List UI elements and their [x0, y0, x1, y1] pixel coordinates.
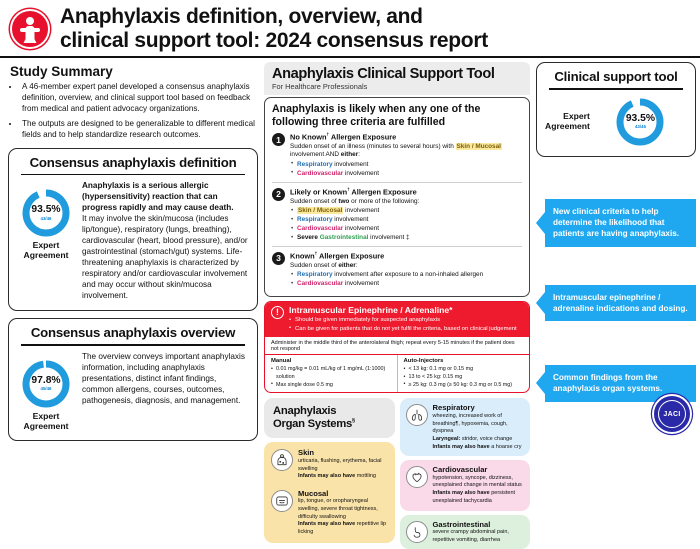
donut-fraction: 45/46 — [41, 387, 52, 391]
auto-injector-heading: Auto-Injectors — [404, 357, 524, 365]
epinephrine-dosing: Manual 0.01 mg/kg = 0.01 mL/kg of 1 mg/m… — [265, 354, 529, 392]
page-title: Anaphylaxis definition, overview, and cl… — [60, 5, 488, 52]
middle-column: Anaphylaxis Clinical Support Tool For He… — [264, 62, 530, 549]
criterion-number: 2 — [272, 188, 285, 201]
criterion-title: No Known† Allergen Exposure — [290, 132, 522, 142]
epinephrine-title: Intramuscular Epinephrine / Adrenaline* — [289, 305, 523, 315]
organ-systems-right-col: Respiratory wheezing, increased work of … — [400, 398, 531, 549]
donut-chart: 93.5% 43/46 — [20, 187, 72, 239]
criterion-title: Known† Allergen Exposure — [290, 251, 522, 261]
list-item: A 46-member expert panel developed a con… — [20, 82, 258, 114]
overview-agreement-stat: 97.8% 45/46 Expert Agreement — [17, 352, 75, 432]
donut-percent: 93.5% — [626, 114, 655, 124]
consensus-overview-panel: Consensus anaphylaxis overview 97.8% 45/… — [8, 318, 258, 440]
list-item: Respiratory involvement — [290, 161, 522, 170]
organ-systems-left-col: Anaphylaxis Organ Systems§ — [264, 398, 395, 549]
lungs-icon — [406, 404, 428, 426]
consensus-definition-panel: Consensus anaphylaxis definition 93.5% 4… — [8, 148, 258, 311]
clinical-support-tool-header: Anaphylaxis Clinical Support Tool For He… — [264, 62, 530, 95]
cst-subheading: For Healthcare Professionals — [272, 82, 522, 91]
callout-epinephrine: Intramuscular epinephrine / adrenaline i… — [545, 285, 696, 322]
criterion-items: Respiratory involvement Cardiovascular i… — [290, 161, 522, 179]
divider — [21, 344, 245, 346]
divider — [549, 88, 683, 90]
exclamation-icon: ! — [271, 306, 284, 319]
list-item: Respiratory involvement after exposure t… — [290, 271, 522, 280]
callout-criteria: New clinical criteria to help determine … — [545, 199, 696, 247]
skin-torso-icon — [271, 449, 293, 471]
donut-fraction: 43/46 — [41, 217, 52, 221]
mouth-icon — [271, 490, 293, 512]
donut-label: Expert Agreement — [17, 412, 75, 432]
list-item: Max single dose 0.5 mg — [271, 382, 391, 390]
donut-percent: 93.5% — [31, 205, 60, 215]
organ-card-respiratory: Respiratory wheezing, increased work of … — [400, 398, 531, 456]
page-header: Anaphylaxis definition, overview, and cl… — [0, 0, 700, 58]
organ-name: Cardiovascular — [433, 465, 525, 474]
skin-mucosal-group: Skin urticaria, flushing, erythema, faci… — [264, 442, 395, 543]
definition-agreement-stat: 93.5% 43/46 Expert Agreement — [17, 181, 75, 261]
manual-dosing: Manual 0.01 mg/kg = 0.01 mL/kg of 1 mg/m… — [265, 355, 398, 392]
donut-label: Expert Agreement — [17, 241, 75, 261]
list-item: Cardiovascular involvement — [290, 170, 522, 179]
organ-card-mucosal: Mucosal lip, tongue, or oropharyngeal sw… — [267, 486, 392, 540]
cst-heading: Anaphylaxis Clinical Support Tool — [272, 66, 522, 82]
statement-highlight: likely — [349, 103, 376, 115]
heart-icon — [406, 466, 428, 488]
study-summary-heading: Study Summary — [10, 64, 258, 79]
list-item: Respiratory involvement — [290, 216, 522, 225]
jaci-journal-badge: JACI — [654, 396, 690, 432]
overview-text: The overview conveys important anaphylax… — [82, 352, 249, 407]
list-item: Skin / Mucosal involvement — [290, 207, 522, 216]
criterion-number: 3 — [272, 252, 285, 265]
criterion-desc: Sudden onset of an illness (minutes to s… — [290, 143, 502, 158]
criterion-3: 3 Known† Allergen Exposure Sudden onset … — [272, 246, 522, 292]
list-item: 13 to < 25 kg: 0.15 mg — [404, 374, 524, 382]
organ-systems-section: Anaphylaxis Organ Systems§ — [264, 398, 530, 549]
criterion-1: 1 No Known† Allergen Exposure Sudden ons… — [272, 128, 522, 182]
organ-title-line1: Anaphylaxis — [273, 405, 386, 418]
page-title-line1: Anaphylaxis definition, overview, and — [60, 5, 488, 29]
donut-label-line2: Agreement — [17, 422, 75, 432]
criterion-items: Skin / Mucosal involvement Respiratory i… — [290, 207, 522, 243]
epinephrine-red-header: ! Intramuscular Epinephrine / Adrenaline… — [265, 302, 529, 337]
list-item: ≥ 25 kg: 0.3 mg (≥ 50 kg: 0.3 mg or 0.5 … — [404, 382, 524, 390]
list-item: Cardiovascular involvement — [290, 280, 522, 289]
organ-card-cardiovascular: Cardiovascular hypotension, syncope, diz… — [400, 460, 531, 510]
organ-findings: urticaria, flushing, erythema, facial sw… — [298, 458, 388, 481]
panel-title: Consensus anaphylaxis overview — [17, 325, 249, 340]
criteria-box: Anaphylaxis is likely when any one of th… — [264, 97, 530, 297]
organ-findings: lip, tongue, or oropharyngeal swelling, … — [298, 498, 388, 536]
donut-percent: 97.8% — [31, 376, 60, 386]
list-item: Should be given immediately for suspecte… — [289, 316, 523, 325]
content-columns: Study Summary A 46-member expert panel d… — [0, 58, 700, 549]
organ-systems-title: Anaphylaxis Organ Systems§ — [264, 398, 395, 438]
stomach-icon — [406, 521, 428, 543]
organ-findings: wheezing, increased work of breathing¶, … — [433, 413, 525, 451]
criteria-statement: Anaphylaxis is likely when any one of th… — [272, 103, 522, 128]
definition-text: Anaphylaxis is a serious allergic (hyper… — [82, 181, 249, 302]
organ-name: Skin — [298, 448, 388, 457]
list-item: < 13 kg: 0.1 mg or 0.15 mg — [404, 366, 524, 374]
definition-body: It may involve the skin/mucosa (includes… — [82, 214, 248, 300]
organ-findings: severe crampy abdominal pain, repetitive… — [433, 529, 525, 544]
list-item: Cardiovascular involvement — [290, 225, 522, 234]
donut-chart: 97.8% 45/46 — [20, 358, 72, 410]
donut-label-line2: Agreement — [545, 122, 590, 132]
epinephrine-bullets: Should be given immediately for suspecte… — [289, 316, 523, 333]
organ-name: Mucosal — [298, 489, 388, 498]
epinephrine-box: ! Intramuscular Epinephrine / Adrenaline… — [264, 301, 530, 393]
right-column: Clinical support tool Expert Agreement 9… — [536, 62, 696, 549]
organ-card-skin: Skin urticaria, flushing, erythema, faci… — [267, 445, 392, 484]
donut-label: Expert Agreement — [545, 112, 590, 132]
auto-injector-dosing: Auto-Injectors < 13 kg: 0.1 mg or 0.15 m… — [398, 355, 530, 392]
page-title-line2: clinical support tool: 2024 consensus re… — [60, 29, 488, 53]
skin-mucosal-tag: Skin / Mucosal — [456, 143, 502, 150]
organ-name: Respiratory — [433, 403, 525, 412]
donut-chart: 93.5% 43/46 — [614, 96, 666, 148]
manual-heading: Manual — [271, 357, 391, 365]
epinephrine-administration-note: Administer in the middle third of the an… — [265, 337, 529, 354]
study-summary-section: Study Summary A 46-member expert panel d… — [8, 64, 258, 141]
panel-title: Clinical support tool — [545, 69, 687, 84]
panel-title: Consensus anaphylaxis definition — [17, 155, 249, 170]
criterion-desc: Sudden onset of either: — [290, 262, 358, 269]
organ-name: Gastrointestinal — [433, 520, 525, 529]
criterion-items: Respiratory involvement after exposure t… — [290, 271, 522, 289]
anaphylaxis-person-logo-icon — [10, 9, 50, 49]
criterion-title: Likely or Known† Allergen Exposure — [290, 187, 522, 197]
left-column: Study Summary A 46-member expert panel d… — [8, 62, 258, 549]
criterion-number: 1 — [272, 133, 285, 146]
donut-label-line2: Agreement — [17, 251, 75, 261]
list-item: Severe Gastrointestinal involvement ‡ — [290, 234, 522, 243]
organ-title-line2: Organ Systems§ — [273, 418, 386, 431]
criterion-desc: Sudden onset of two or more of the follo… — [290, 198, 419, 205]
organ-card-gastrointestinal: Gastrointestinal severe crampy abdominal… — [400, 515, 531, 549]
list-item: 0.01 mg/kg = 0.01 mL/kg of 1 mg/mL (1:10… — [271, 366, 391, 381]
study-summary-bullets: A 46-member expert panel developed a con… — [8, 82, 258, 141]
clinical-support-tool-panel: Clinical support tool Expert Agreement 9… — [536, 62, 696, 157]
organ-findings: hypotension, syncope, dizziness, unexpla… — [433, 475, 525, 506]
list-item: The outputs are designed to be generaliz… — [20, 119, 258, 141]
divider — [21, 174, 245, 176]
statement-pre: Anaphylaxis is — [272, 103, 349, 115]
donut-fraction: 43/46 — [635, 125, 646, 129]
list-item: Can be given for patients that do not ye… — [289, 325, 523, 334]
definition-lead: Anaphylaxis is a serious allergic (hyper… — [82, 181, 249, 214]
criterion-2: 2 Likely or Known† Allergen Exposure Sud… — [272, 182, 522, 246]
